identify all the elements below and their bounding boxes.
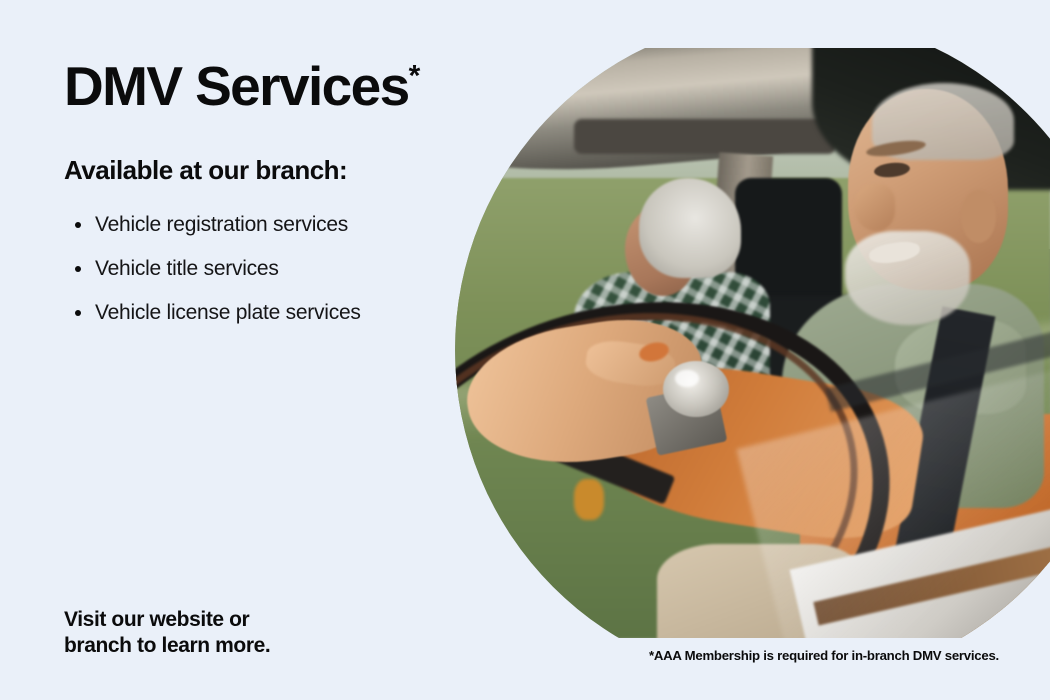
bullet-icon: [75, 222, 81, 228]
footnote-disclaimer: *AAA Membership is required for in-branc…: [649, 648, 999, 664]
driver-nose: [854, 184, 896, 231]
cta-line-1: Visit our website or: [64, 607, 394, 633]
passenger-hair: [639, 178, 740, 278]
driving-couple-photo: [455, 48, 1050, 638]
bullet-icon: [75, 310, 81, 316]
call-to-action: Visit our website or branch to learn mor…: [64, 607, 394, 659]
list-item-label: Vehicle license plate services: [95, 301, 361, 324]
page-title-text: DMV Services: [64, 55, 409, 117]
list-item-label: Vehicle registration services: [95, 213, 348, 236]
dash-indicator-light: [574, 479, 604, 520]
page-title: DMV Services*: [64, 56, 464, 116]
list-item-label: Vehicle title services: [95, 257, 279, 280]
copy-block: DMV Services* Available at our branch: V…: [64, 56, 464, 344]
list-item: Vehicle title services: [64, 256, 464, 282]
wristwatch-glint: [675, 370, 699, 388]
wristwatch-face: [663, 361, 728, 417]
cta-line-2: branch to learn more.: [64, 633, 394, 659]
list-item: Vehicle registration services: [64, 212, 464, 238]
services-list: Vehicle registration services Vehicle ti…: [64, 186, 464, 326]
list-item: Vehicle license plate services: [64, 300, 464, 326]
subheading: Available at our branch:: [64, 116, 464, 186]
page-title-asterisk: *: [409, 60, 421, 93]
driver-ear: [961, 190, 997, 243]
photo-canvas: [455, 48, 1050, 638]
bullet-icon: [75, 266, 81, 272]
dmv-services-banner: DMV Services* Available at our branch: V…: [0, 0, 1050, 700]
roof-console: [574, 119, 836, 154]
